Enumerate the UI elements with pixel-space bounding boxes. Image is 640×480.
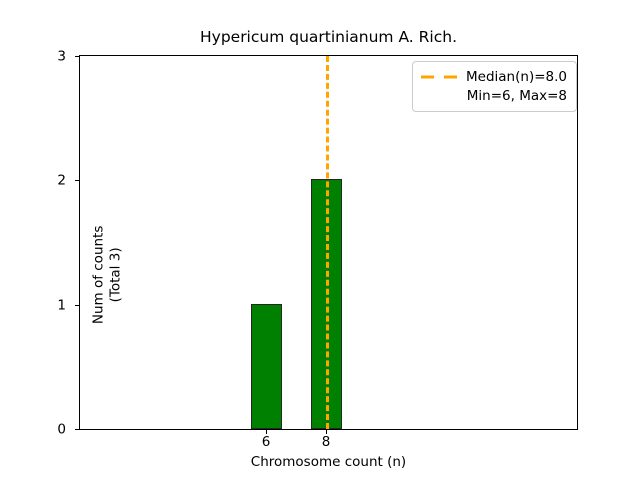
y-tick-label-0: 0 bbox=[57, 423, 66, 437]
y-axis-label: Num of counts (Total 3) bbox=[91, 87, 125, 462]
y-axis-label-line1: Num of counts bbox=[91, 87, 108, 462]
legend-label-median: Median(n)=8.0 bbox=[466, 68, 567, 86]
legend-entry-median: Median(n)=8.0 bbox=[421, 68, 567, 86]
y-tick-label-1: 1 bbox=[57, 299, 66, 313]
bar-n6 bbox=[251, 304, 282, 429]
x-tick-label-6: 6 bbox=[262, 436, 271, 450]
dashed-line-icon bbox=[421, 71, 457, 83]
y-tick-1: 1 bbox=[75, 305, 80, 306]
y-tick-label-2: 2 bbox=[57, 175, 66, 189]
median-line bbox=[326, 56, 329, 429]
chart-title: Hypericum quartinianum A. Rich. bbox=[79, 28, 578, 46]
y-axis-label-line2: (Total 3) bbox=[108, 87, 125, 462]
legend-entry-minmax: Min=6, Max=8 bbox=[421, 87, 567, 105]
x-axis-label: Chromosome count (n) bbox=[79, 454, 578, 470]
legend-label-minmax: Min=6, Max=8 bbox=[467, 87, 567, 105]
chart-figure: Hypericum quartinianum A. Rich. 0 1 2 3 … bbox=[0, 0, 640, 480]
y-tick-label-3: 3 bbox=[57, 50, 66, 64]
plot-area: 0 1 2 3 6 8 Median(n)=8.0 Min=6, Max=8 bbox=[79, 55, 578, 430]
x-tick-label-8: 8 bbox=[322, 436, 331, 450]
y-tick-3: 3 bbox=[75, 56, 80, 57]
legend: Median(n)=8.0 Min=6, Max=8 bbox=[412, 61, 577, 112]
y-tick-0: 0 bbox=[75, 429, 80, 430]
y-tick-2: 2 bbox=[75, 180, 80, 181]
